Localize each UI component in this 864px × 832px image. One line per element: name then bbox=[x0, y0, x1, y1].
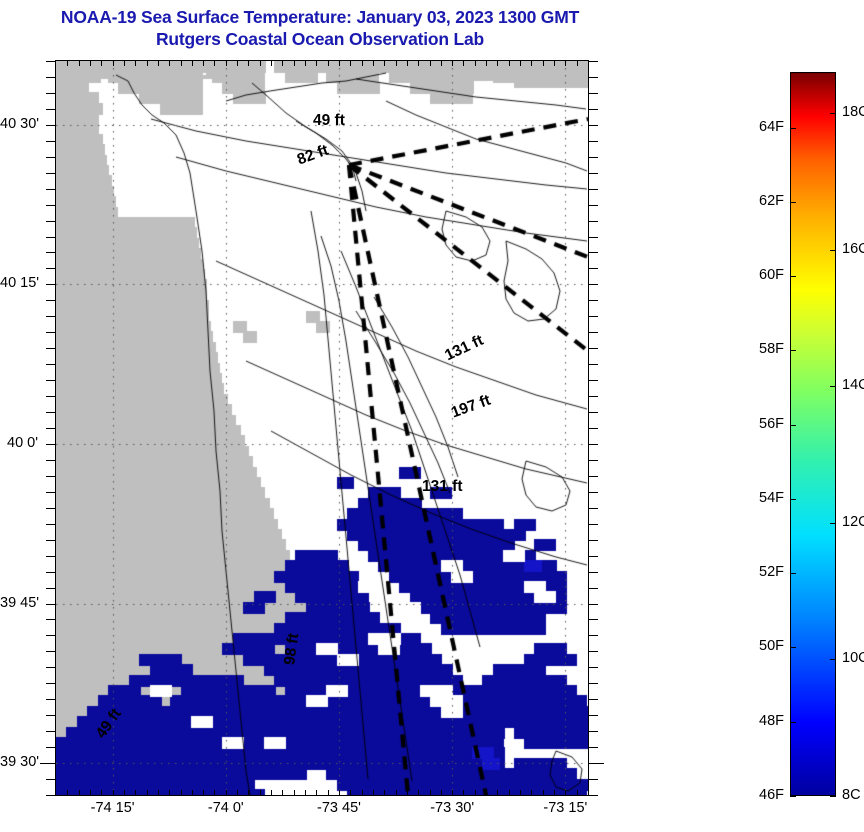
colorbar-tick bbox=[790, 573, 796, 574]
colorbar-gradient bbox=[791, 73, 835, 795]
colorbar-tick bbox=[790, 647, 796, 648]
y-tick-right bbox=[589, 444, 598, 445]
temperature-colorbar bbox=[790, 72, 836, 796]
x-tick-bottom bbox=[565, 790, 566, 796]
y-tick-right bbox=[589, 476, 598, 477]
x-tick-top bbox=[294, 60, 295, 66]
y-tick-right bbox=[589, 428, 598, 429]
x-tick-top bbox=[67, 60, 68, 66]
colorbar-label-f: 46F bbox=[734, 787, 784, 803]
y-tick-right bbox=[589, 61, 598, 62]
colorbar-label-f: 60F bbox=[734, 267, 784, 283]
y-tick-right bbox=[589, 316, 598, 317]
x-tick-bottom bbox=[475, 790, 476, 796]
x-tick-bottom bbox=[328, 790, 329, 796]
x-tick-bottom bbox=[294, 790, 295, 796]
y-tick-left bbox=[46, 508, 55, 509]
y-tick-left bbox=[46, 715, 55, 716]
y-tick-left bbox=[46, 667, 55, 668]
x-tick-bottom bbox=[158, 790, 159, 796]
colorbar-tick bbox=[790, 350, 796, 351]
x-tick-top bbox=[531, 60, 532, 66]
y-tick-left bbox=[46, 635, 55, 636]
y-tick-left bbox=[46, 332, 55, 333]
x-tick-bottom bbox=[305, 790, 306, 796]
y-tick-left bbox=[46, 109, 55, 110]
colorbar-tick bbox=[830, 386, 836, 387]
x-tick-top bbox=[554, 60, 555, 66]
colorbar-tick bbox=[790, 722, 796, 723]
y-tick-right bbox=[589, 252, 598, 253]
y-tick-right bbox=[589, 189, 598, 190]
x-axis-label: -74 0' bbox=[181, 800, 271, 816]
x-tick-bottom bbox=[441, 790, 442, 796]
colorbar-tick bbox=[830, 659, 836, 660]
y-axis-label: 40 0' bbox=[0, 435, 38, 451]
x-tick-top bbox=[113, 60, 114, 66]
x-tick-top bbox=[373, 60, 374, 66]
x-tick-top bbox=[407, 60, 408, 66]
y-tick-right bbox=[589, 556, 598, 557]
x-tick-bottom bbox=[350, 790, 351, 796]
x-tick-top bbox=[214, 60, 215, 66]
colorbar-label-c: 18C bbox=[842, 104, 864, 120]
x-tick-bottom bbox=[554, 790, 555, 796]
x-tick-top bbox=[520, 60, 521, 66]
y-tick-left bbox=[46, 540, 55, 541]
x-tick-top bbox=[543, 60, 544, 66]
colorbar-tick bbox=[830, 523, 836, 524]
x-tick-bottom bbox=[214, 790, 215, 796]
x-tick-top bbox=[463, 60, 464, 66]
x-tick-top bbox=[430, 60, 431, 66]
y-tick-right bbox=[589, 699, 598, 700]
y-tick-right bbox=[589, 747, 598, 748]
x-tick-bottom bbox=[384, 790, 385, 796]
y-tick-right bbox=[589, 396, 598, 397]
y-tick-left bbox=[46, 125, 55, 126]
y-tick-right bbox=[589, 173, 598, 174]
y-tick-left bbox=[46, 556, 55, 557]
x-tick-bottom bbox=[203, 790, 204, 796]
chart-title-block: NOAA-19 Sea Surface Temperature: January… bbox=[0, 6, 640, 50]
y-tick-left bbox=[46, 284, 55, 285]
x-tick-bottom bbox=[67, 790, 68, 796]
y-tick-left bbox=[46, 699, 55, 700]
y-tick-left bbox=[46, 619, 55, 620]
x-tick-bottom bbox=[543, 790, 544, 796]
x-tick-bottom bbox=[79, 790, 80, 796]
x-tick-bottom bbox=[486, 790, 487, 796]
x-tick-top bbox=[486, 60, 487, 66]
colorbar-label-f: 56F bbox=[734, 416, 784, 432]
colorbar-label-f: 54F bbox=[734, 490, 784, 506]
x-tick-bottom bbox=[147, 790, 148, 796]
sst-map-page: { "title": { "line1": "NOAA-19 Sea Surfa… bbox=[0, 0, 864, 832]
y-tick-left bbox=[46, 588, 55, 589]
y-tick-left bbox=[46, 77, 55, 78]
x-tick-bottom bbox=[124, 790, 125, 796]
y-tick-left bbox=[46, 364, 55, 365]
y-tick-right bbox=[589, 715, 598, 716]
colorbar-label-c: 16C bbox=[842, 241, 864, 257]
y-tick-left bbox=[46, 173, 55, 174]
x-tick-top bbox=[328, 60, 329, 66]
x-tick-bottom bbox=[113, 790, 114, 796]
colorbar-tick bbox=[790, 425, 796, 426]
x-tick-top bbox=[181, 60, 182, 66]
y-tick-right bbox=[589, 731, 598, 732]
y-tick-right bbox=[589, 508, 598, 509]
y-tick-left bbox=[46, 492, 55, 493]
y-tick-left bbox=[46, 237, 55, 238]
y-tick-left bbox=[46, 428, 55, 429]
y-tick-right bbox=[589, 141, 598, 142]
y-tick-right bbox=[589, 412, 598, 413]
depth-label: 131 ft bbox=[422, 478, 463, 496]
y-tick-left bbox=[46, 604, 55, 605]
y-tick-left bbox=[46, 205, 55, 206]
colorbar-label-c: 12C bbox=[842, 514, 864, 530]
y-axis-label: 39 45' bbox=[0, 595, 38, 611]
x-tick-top bbox=[452, 60, 453, 66]
x-tick-bottom bbox=[362, 790, 363, 796]
y-axis-label: 40 30' bbox=[0, 116, 38, 132]
y-tick-left bbox=[46, 268, 55, 269]
x-tick-top bbox=[226, 60, 227, 66]
x-tick-top bbox=[396, 60, 397, 66]
x-tick-top bbox=[101, 60, 102, 66]
y-tick-left bbox=[46, 444, 55, 445]
colorbar-tick bbox=[830, 796, 836, 797]
x-tick-top bbox=[135, 60, 136, 66]
y-tick-right bbox=[589, 268, 598, 269]
colorbar-tick bbox=[790, 202, 796, 203]
y-tick-right bbox=[589, 795, 598, 796]
x-tick-bottom bbox=[282, 790, 283, 796]
y-tick-left bbox=[46, 651, 55, 652]
colorbar-tick bbox=[790, 276, 796, 277]
y-tick-left bbox=[46, 61, 55, 62]
x-tick-top bbox=[203, 60, 204, 66]
y-tick-right bbox=[589, 588, 598, 589]
colorbar-label-f: 52F bbox=[734, 564, 784, 580]
x-tick-top bbox=[441, 60, 442, 66]
y-tick-right bbox=[589, 540, 598, 541]
colorbar-label-f: 48F bbox=[734, 713, 784, 729]
y-axis-label: 40 15' bbox=[0, 275, 38, 291]
y-tick-left bbox=[46, 189, 55, 190]
x-axis-label: -73 30' bbox=[407, 800, 497, 816]
x-tick-top bbox=[248, 60, 249, 66]
x-tick-bottom bbox=[90, 790, 91, 796]
y-tick-left bbox=[46, 779, 55, 780]
colorbar-tick bbox=[790, 128, 796, 129]
x-tick-bottom bbox=[407, 790, 408, 796]
y-tick-left bbox=[46, 348, 55, 349]
y-tick-left bbox=[46, 747, 55, 748]
y-tick-left bbox=[46, 141, 55, 142]
depth-label: 49 ft bbox=[313, 112, 345, 130]
y-tick-right bbox=[589, 524, 598, 525]
y-tick-right bbox=[589, 300, 598, 301]
y-tick-left bbox=[46, 316, 55, 317]
y-tick-right bbox=[589, 109, 598, 110]
x-tick-bottom bbox=[271, 790, 272, 796]
x-tick-top bbox=[79, 60, 80, 66]
y-tick-right bbox=[589, 93, 598, 94]
y-axis-label: 39 30' bbox=[0, 754, 38, 770]
colorbar-label-c: 8C bbox=[842, 787, 864, 803]
y-tick-left bbox=[46, 380, 55, 381]
colorbar-label-f: 62F bbox=[734, 193, 784, 209]
x-tick-top bbox=[384, 60, 385, 66]
x-tick-top bbox=[577, 60, 578, 66]
y-tick-right bbox=[589, 284, 598, 285]
x-tick-bottom bbox=[531, 790, 532, 796]
x-tick-bottom bbox=[509, 790, 510, 796]
y-tick-right bbox=[589, 667, 598, 668]
y-tick-left bbox=[46, 572, 55, 573]
x-tick-top bbox=[192, 60, 193, 66]
x-tick-bottom bbox=[101, 790, 102, 796]
x-tick-bottom bbox=[226, 790, 227, 796]
y-tick-right bbox=[589, 460, 598, 461]
x-tick-top bbox=[124, 60, 125, 66]
colorbar-label-c: 10C bbox=[842, 650, 864, 666]
x-tick-top bbox=[418, 60, 419, 66]
colorbar-tick bbox=[830, 113, 836, 114]
x-tick-top bbox=[350, 60, 351, 66]
page-title: NOAA-19 Sea Surface Temperature: January… bbox=[0, 6, 640, 28]
x-tick-top bbox=[271, 60, 272, 66]
x-tick-top bbox=[475, 60, 476, 66]
x-tick-bottom bbox=[373, 790, 374, 796]
sst-map-plot-area bbox=[55, 60, 589, 796]
x-tick-top bbox=[565, 60, 566, 66]
x-tick-bottom bbox=[248, 790, 249, 796]
y-tick-right bbox=[589, 651, 598, 652]
x-tick-top bbox=[260, 60, 261, 66]
x-tick-bottom bbox=[463, 790, 464, 796]
x-tick-top bbox=[237, 60, 238, 66]
y-tick-left bbox=[46, 93, 55, 94]
y-tick-left bbox=[46, 221, 55, 222]
x-axis-label: -74 15' bbox=[68, 800, 158, 816]
x-tick-bottom bbox=[577, 790, 578, 796]
x-tick-top bbox=[90, 60, 91, 66]
x-tick-bottom bbox=[396, 790, 397, 796]
x-tick-bottom bbox=[520, 790, 521, 796]
x-axis-label: -73 45' bbox=[294, 800, 384, 816]
y-tick-left bbox=[46, 795, 55, 796]
y-tick-right bbox=[589, 635, 598, 636]
y-tick-right bbox=[589, 619, 598, 620]
x-tick-bottom bbox=[430, 790, 431, 796]
y-tick-right bbox=[589, 380, 598, 381]
y-tick-right bbox=[589, 683, 598, 684]
x-tick-bottom bbox=[260, 790, 261, 796]
x-tick-bottom bbox=[237, 790, 238, 796]
y-tick-right bbox=[589, 572, 598, 573]
y-tick-right bbox=[589, 604, 598, 605]
y-tick-left bbox=[40, 763, 55, 764]
colorbar-label-f: 58F bbox=[734, 341, 784, 357]
x-tick-top bbox=[282, 60, 283, 66]
x-tick-bottom bbox=[181, 790, 182, 796]
x-tick-top bbox=[169, 60, 170, 66]
y-tick-right bbox=[589, 763, 604, 764]
x-axis-label: -73 15' bbox=[520, 800, 610, 816]
x-tick-top bbox=[147, 60, 148, 66]
colorbar-label-f: 64F bbox=[734, 119, 784, 135]
x-tick-bottom bbox=[135, 790, 136, 796]
x-tick-top bbox=[316, 60, 317, 66]
y-tick-right bbox=[589, 125, 598, 126]
y-tick-right bbox=[589, 205, 598, 206]
y-tick-right bbox=[589, 157, 598, 158]
colorbar-tick bbox=[790, 796, 796, 797]
y-tick-right bbox=[589, 332, 598, 333]
y-tick-left bbox=[46, 412, 55, 413]
x-tick-bottom bbox=[169, 790, 170, 796]
y-tick-right bbox=[589, 221, 598, 222]
x-tick-bottom bbox=[316, 790, 317, 796]
y-tick-right bbox=[589, 348, 598, 349]
x-tick-top bbox=[497, 60, 498, 66]
x-tick-top bbox=[158, 60, 159, 66]
colorbar-tick bbox=[790, 499, 796, 500]
y-tick-right bbox=[589, 237, 598, 238]
x-tick-bottom bbox=[497, 790, 498, 796]
page-subtitle: Rutgers Coastal Ocean Observation Lab bbox=[0, 28, 640, 50]
y-tick-right bbox=[589, 779, 598, 780]
y-tick-left bbox=[46, 524, 55, 525]
colorbar-label-c: 14C bbox=[842, 377, 864, 393]
x-tick-top bbox=[362, 60, 363, 66]
y-tick-left bbox=[46, 252, 55, 253]
y-tick-left bbox=[46, 300, 55, 301]
sst-raster-canvas bbox=[56, 61, 588, 795]
y-tick-left bbox=[46, 683, 55, 684]
y-tick-right bbox=[589, 364, 598, 365]
colorbar-tick bbox=[830, 250, 836, 251]
x-tick-bottom bbox=[339, 790, 340, 796]
x-tick-bottom bbox=[418, 790, 419, 796]
y-tick-right bbox=[589, 77, 598, 78]
x-tick-bottom bbox=[452, 790, 453, 796]
x-tick-top bbox=[339, 60, 340, 66]
y-tick-left bbox=[46, 731, 55, 732]
x-tick-top bbox=[305, 60, 306, 66]
y-tick-right bbox=[589, 492, 598, 493]
y-tick-left bbox=[46, 396, 55, 397]
y-tick-left bbox=[46, 460, 55, 461]
y-tick-left bbox=[46, 157, 55, 158]
colorbar-label-f: 50F bbox=[734, 638, 784, 654]
x-tick-bottom bbox=[192, 790, 193, 796]
x-tick-top bbox=[509, 60, 510, 66]
y-tick-left bbox=[46, 476, 55, 477]
